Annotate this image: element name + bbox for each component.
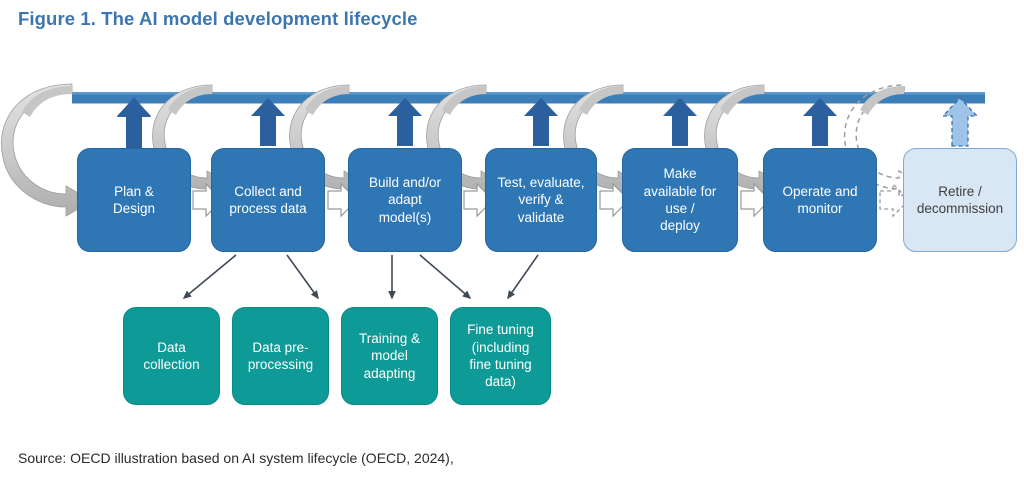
substage-label: Training &modeladapting [353,330,426,382]
substage-data-preprocessing[interactable]: Data pre-processing [232,307,329,405]
stage-label: Operate andmonitor [776,183,863,218]
stage-operate-monitor[interactable]: Operate andmonitor [763,148,877,252]
lifecycle-diagram: Plan &Design Collect andprocess data Bui… [0,60,1024,440]
stage-label: Collect andprocess data [223,183,312,218]
stage-plan-design[interactable]: Plan &Design [77,148,191,252]
substage-label: Fine tuning(includingfine tuningdata) [461,321,540,390]
substage-connector-arrows [184,255,538,298]
substage-fine-tuning[interactable]: Fine tuning(includingfine tuningdata) [450,307,551,405]
substage-training-adapting[interactable]: Training &modeladapting [341,307,438,405]
substage-label: Datacollection [137,339,205,374]
figure-root: Figure 1. The AI model development lifec… [0,0,1024,479]
figure-title: Figure 1. The AI model development lifec… [18,8,418,30]
stage-label: Test, evaluate,verify &validate [491,174,590,226]
stage-collect-process[interactable]: Collect andprocess data [211,148,325,252]
stage-build-adapt[interactable]: Build and/oradaptmodel(s) [348,148,462,252]
stage-label: Plan &Design [107,183,161,218]
substage-data-collection[interactable]: Datacollection [123,307,220,405]
stage-retire-decommission[interactable]: Retire /decommission [903,148,1017,252]
figure-source-note: Source: OECD illustration based on AI sy… [18,450,454,466]
stage-label: Build and/oradaptmodel(s) [363,174,447,226]
riser-arrow-dashed [943,98,977,146]
stage-make-available[interactable]: Makeavailable foruse /deploy [622,148,738,252]
substage-label: Data pre-processing [242,339,319,374]
stage-label: Retire /decommission [911,183,1009,218]
stage-label: Makeavailable foruse /deploy [638,165,723,234]
stage-test-evaluate[interactable]: Test, evaluate,verify &validate [485,148,597,252]
